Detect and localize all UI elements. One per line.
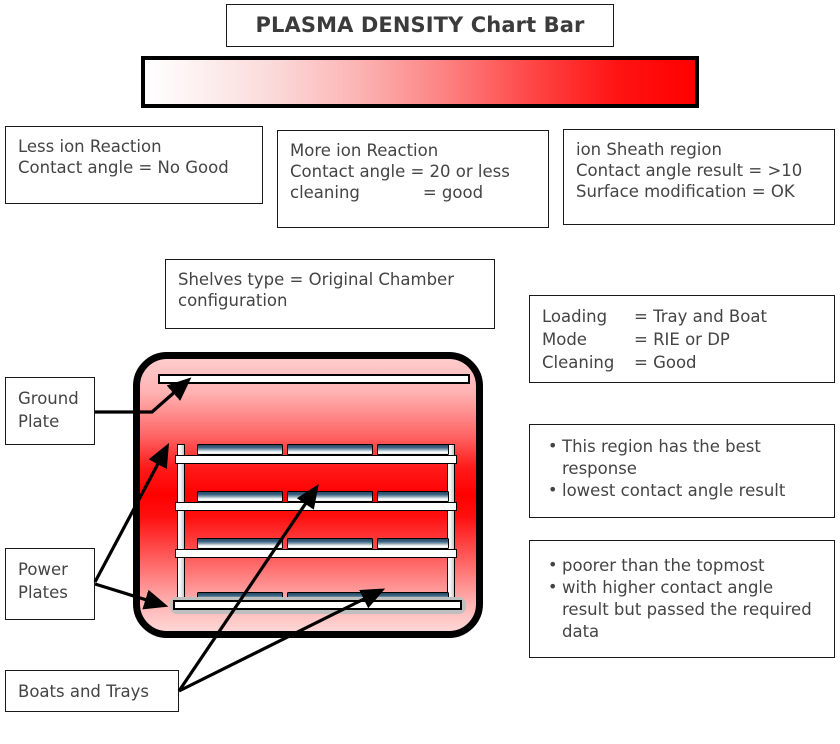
shelves-line1: Shelves type = Original Chamber	[178, 269, 482, 290]
poorer-region-bullet-list: poorer than the topmost with higher cont…	[530, 555, 820, 643]
loading-row: Loading = Tray and Boat	[542, 305, 822, 328]
callout-ground-plate: Ground Plate	[5, 377, 95, 445]
best-region-bullet-list: This region has the best response lowest…	[530, 436, 820, 502]
legend-less-line2: Contact angle = No Good	[18, 157, 250, 178]
mode-row: Mode = RIE or DP	[542, 328, 822, 351]
plasma-density-gradient-bar	[141, 56, 699, 108]
shelf-rail	[175, 502, 457, 511]
boat-tray	[197, 444, 283, 455]
boat-tray	[287, 491, 373, 502]
boats-trays-line1: Boats and Trays	[18, 680, 166, 704]
legend-box-less-ion-reaction: Less ion Reaction Contact angle = No Goo…	[5, 126, 263, 204]
power-plates-line1: Power	[18, 558, 82, 581]
list-item: with higher contact angle result but pas…	[548, 577, 820, 643]
mode-value: = RIE or DP	[634, 328, 822, 351]
cleaning-row: Cleaning = Good	[542, 351, 822, 374]
rack-post-left	[177, 444, 185, 608]
boat-tray	[377, 538, 449, 549]
legend-more-line1: More ion Reaction	[290, 140, 536, 161]
shelf-rail	[175, 549, 457, 558]
boat-tray	[197, 491, 283, 502]
callout-power-plates: Power Plates	[5, 548, 95, 620]
mode-key: Mode	[542, 328, 634, 351]
power-plates-line2: Plates	[18, 581, 82, 604]
page-title: PLASMA DENSITY Chart Bar	[227, 5, 613, 46]
base-power-plate	[173, 600, 462, 610]
loading-mode-cleaning-box: Loading = Tray and Boat Mode = RIE or DP…	[529, 295, 835, 383]
plasma-chamber-diagram	[133, 352, 483, 638]
chart-title-box: PLASMA DENSITY Chart Bar	[226, 4, 614, 47]
legend-sheath-line3: Surface modification = OK	[576, 181, 822, 202]
list-item: This region has the best response	[548, 436, 820, 480]
list-item: poorer than the topmost	[548, 555, 820, 577]
ground-plate-line2: Plate	[18, 410, 82, 433]
cleaning-value: = Good	[634, 351, 822, 374]
rack-post-right	[447, 444, 455, 608]
legend-less-line1: Less ion Reaction	[18, 136, 250, 157]
legend-box-ion-sheath-region: ion Sheath region Contact angle result =…	[563, 129, 835, 225]
loading-key: Loading	[542, 305, 634, 328]
cleaning-key: Cleaning	[542, 351, 634, 374]
legend-more-line3: cleaning = good	[290, 182, 536, 203]
list-item: lowest contact angle result	[548, 480, 820, 502]
legend-sheath-line1: ion Sheath region	[576, 139, 822, 160]
shelves-type-box: Shelves type = Original Chamber configur…	[165, 259, 495, 329]
shelf-rack	[175, 444, 457, 616]
loading-value: = Tray and Boat	[634, 305, 822, 328]
ground-plate-line1: Ground	[18, 387, 82, 410]
best-region-note-box: This region has the best response lowest…	[529, 424, 835, 518]
shelves-line2: configuration	[178, 290, 482, 311]
legend-box-more-ion-reaction: More ion Reaction Contact angle = 20 or …	[277, 130, 549, 228]
boat-tray	[377, 444, 449, 455]
boat-tray	[287, 538, 373, 549]
legend-more-line2: Contact angle = 20 or less	[290, 161, 536, 182]
boat-tray	[287, 444, 373, 455]
boat-tray	[197, 538, 283, 549]
callout-boats-and-trays: Boats and Trays	[5, 670, 179, 712]
ground-plate-bar	[158, 374, 470, 384]
legend-sheath-line2: Contact angle result = >10	[576, 160, 822, 181]
shelf-rail	[175, 455, 457, 464]
poorer-region-note-box: poorer than the topmost with higher cont…	[529, 540, 835, 658]
boat-tray	[377, 491, 449, 502]
